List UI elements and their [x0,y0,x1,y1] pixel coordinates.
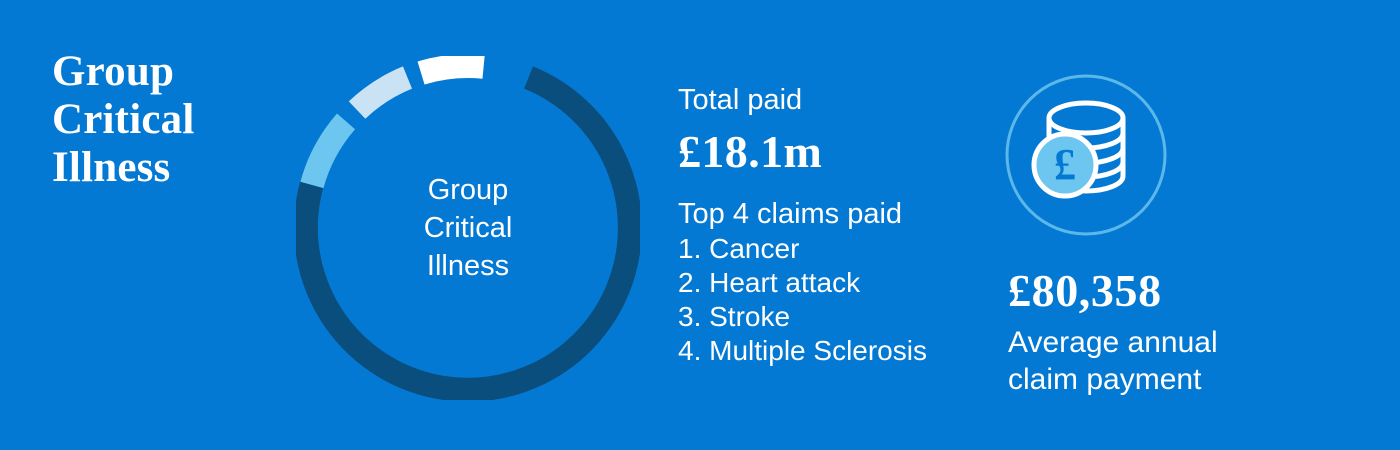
list-item: 3. Stroke [678,300,988,334]
total-paid-value: £18.1m [678,124,988,180]
donut-segment-multiple-sclerosis [421,66,484,73]
page-title-line-2: Critical [52,96,302,144]
average-claim-value: £80,358 [1008,264,1303,318]
donut-segment-heart-attack [312,121,346,185]
page-title-line-1: Group [52,48,302,96]
average-payment-column: £ £80,358 Average annual claim payment [1003,72,1303,398]
average-claim-label: Average annual claim payment [1008,324,1258,398]
list-item: 1. Cancer [678,232,988,266]
donut-segment-cancer [306,78,630,390]
svg-text:£: £ [1054,140,1076,189]
average-claim-label-line-1: Average annual [1008,326,1218,359]
list-item: 4. Multiple Sclerosis [678,334,988,368]
page-title-line-3: Illness [52,144,302,192]
stats-column: Total paid £18.1m Top 4 claims paid 1. C… [678,82,988,368]
donut-chart-svg [296,56,640,400]
donut-chart: Group Critical Illness [296,56,640,400]
total-paid-label: Total paid [678,82,988,118]
donut-segment-stroke [357,78,407,111]
top-claims-list: 1. Cancer 2. Heart attack 3. Stroke 4. M… [678,232,988,368]
infographic-canvas: Group Critical Illness Group Critical Il… [0,0,1400,450]
average-claim-label-line-2: claim payment [1008,363,1201,396]
list-item: 2. Heart attack [678,266,988,300]
coin-stack-pound-icon: £ [1003,72,1169,238]
claims-heading: Top 4 claims paid [678,196,988,232]
page-title: Group Critical Illness [52,48,302,192]
